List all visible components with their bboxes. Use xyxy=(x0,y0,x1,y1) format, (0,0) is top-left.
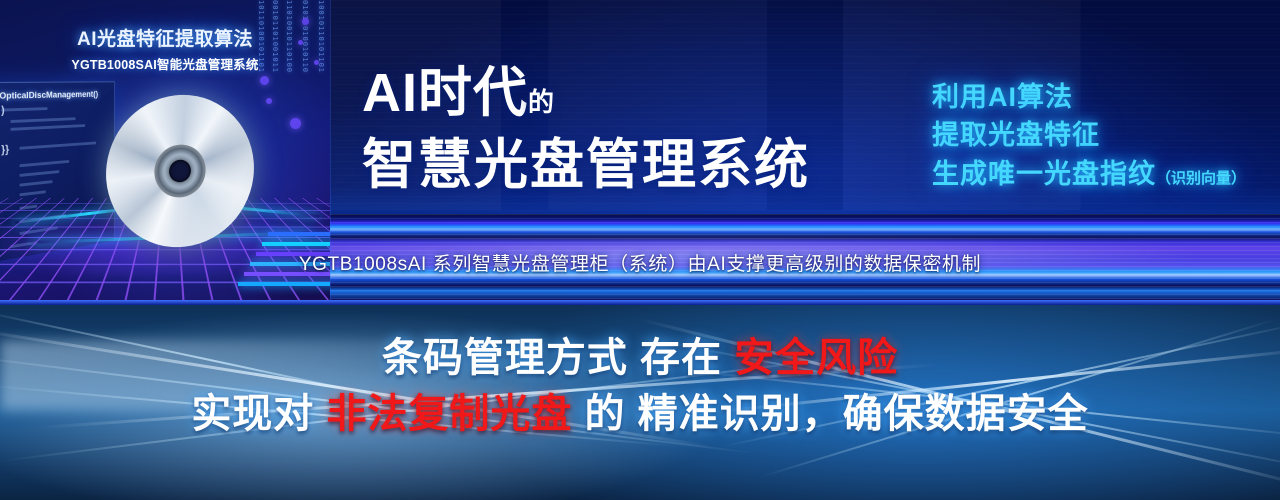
bullet-item-2: 提取光盘特征 xyxy=(932,116,1246,154)
code-header-text: OpticalDiscManagement() xyxy=(0,90,98,102)
code-line xyxy=(10,117,75,123)
upper-section: OpticalDiscManagement() ) }} xyxy=(0,0,1280,300)
lower-headline-line-2: 实现对 非法复制光盘 的 精准识别，确保数据安全 xyxy=(0,394,1280,434)
code-line xyxy=(20,170,60,177)
inset-title: AI光盘特征提取算法 xyxy=(0,24,330,51)
product-subtitle: YGTB1008sAI 系列智慧光盘管理柜（系统）由AI支撑更高级别的数据保密机… xyxy=(0,249,1280,276)
code-line xyxy=(1,107,47,111)
lower-line-2-part-3: 的 精准识别，确保数据安全 xyxy=(572,392,1088,436)
headline-line-1-main: AI时代 xyxy=(362,63,528,123)
bullet-item-1-text: 利用AI算法 xyxy=(932,82,1073,112)
headline-line-1-suffix: 的 xyxy=(528,87,555,117)
bullet-item-3-note: （识别向量） xyxy=(1156,170,1246,187)
headline-block: AI时代的 智慧光盘管理系统 xyxy=(362,66,922,192)
inset-subtitle: YGTB1008SAI智能光盘管理系统 xyxy=(0,54,330,73)
section-divider xyxy=(0,300,1280,305)
code-line xyxy=(10,124,85,131)
lower-line-1-part-2: 安全风险 xyxy=(734,336,898,380)
neon-stripe xyxy=(238,282,330,286)
lower-line-2-part-2: 非法复制光盘 xyxy=(326,392,572,436)
neon-stripe xyxy=(262,242,330,246)
neon-stripe xyxy=(268,232,330,236)
lower-line-1-part-1: 条码管理方式 存在 xyxy=(382,336,734,380)
code-brace-close: }} xyxy=(1,144,9,156)
lower-headline-line-1: 条码管理方式 存在 安全风险 xyxy=(0,338,1280,378)
bullet-item-3-text: 生成唯一光盘指纹 xyxy=(932,159,1156,189)
bullet-item-2-text: 提取光盘特征 xyxy=(932,120,1100,150)
glow-dot xyxy=(266,98,272,104)
headline-line-1: AI时代的 xyxy=(362,66,922,120)
headline-line-2: 智慧光盘管理系统 xyxy=(362,138,922,192)
code-line xyxy=(20,142,97,150)
code-line xyxy=(20,160,70,167)
code-line xyxy=(20,190,46,196)
promo-banner: OpticalDiscManagement() ) }} xyxy=(0,0,1280,500)
lower-line-2-part-1: 实现对 xyxy=(191,392,326,436)
bullet-item-3: 生成唯一光盘指纹（识别向量） xyxy=(932,155,1246,193)
lower-headline-block: 条码管理方式 存在 安全风险 实现对 非法复制光盘 的 精准识别，确保数据安全 xyxy=(0,338,1280,434)
glow-dot xyxy=(290,118,301,129)
bullet-item-1: 利用AI算法 xyxy=(932,78,1246,116)
feature-bullet-list: 利用AI算法 提取光盘特征 生成唯一光盘指纹（识别向量） xyxy=(932,78,1246,193)
code-line xyxy=(20,180,53,186)
glow-dot xyxy=(260,76,269,85)
